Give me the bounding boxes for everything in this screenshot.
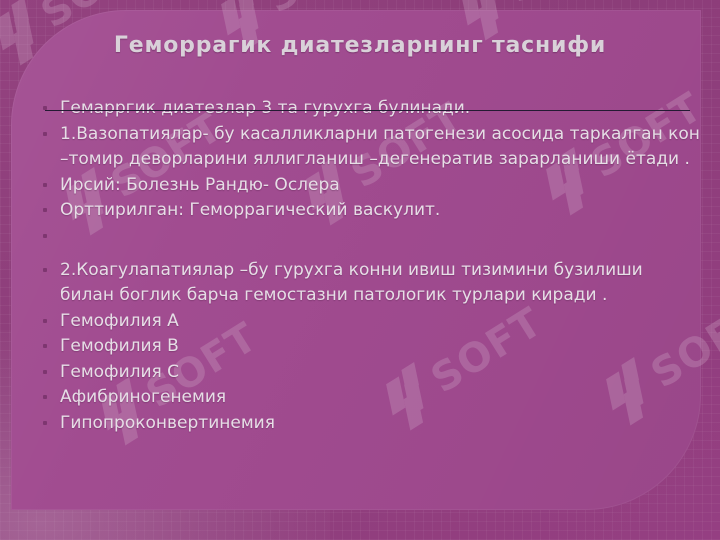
list-item-text: Ирсий: Болезнь Рандю- Ослера bbox=[60, 175, 340, 195]
list-item: Афибриногенемия bbox=[40, 385, 702, 411]
list-item: Орттирилган: Геморрагический васкулит. bbox=[40, 198, 702, 224]
list-item-text: Гемофилия С bbox=[60, 362, 179, 382]
list-item: 1.Вазопатиялар- бу касалликларни патоген… bbox=[40, 122, 702, 173]
slide-title: Геморрагик диатезларнинг таснифи bbox=[0, 33, 720, 58]
list-item-text: Гипопроконвертинемия bbox=[60, 413, 275, 433]
list-item-text: 2.Коагулапатиялар –бу гурухга конни ивиш… bbox=[60, 260, 643, 306]
list-item: Гемарргик диатезлар 3 та гурухга булинад… bbox=[40, 96, 702, 122]
presentation-slide: SOFT SOFT SOFT SOFT SOFT SOFT SOFT SOFT bbox=[0, 0, 720, 540]
list-item: Гипопроконвертинемия bbox=[40, 411, 702, 437]
list-item: Гемофилия С bbox=[40, 360, 702, 386]
list-item: Гемофилия В bbox=[40, 334, 702, 360]
list-item bbox=[40, 224, 702, 258]
list-item-text: 1.Вазопатиялар- бу касалликларни патоген… bbox=[60, 124, 700, 170]
list-item-text: Гемофилия А bbox=[60, 311, 179, 331]
list-item-text: Гемофилия В bbox=[60, 336, 179, 356]
list-item: 2.Коагулапатиялар –бу гурухга конни ивиш… bbox=[40, 258, 702, 309]
list-item-text: Орттирилган: Геморрагический васкулит. bbox=[60, 200, 440, 220]
list-item-text: Гемарргик диатезлар 3 та гурухга булинад… bbox=[60, 98, 470, 118]
list-item-text: Афибриногенемия bbox=[60, 387, 226, 407]
list-item: Ирсий: Болезнь Рандю- Ослера bbox=[40, 173, 702, 199]
slide-content: Геморрагик диатезларнинг таснифи Гемаррг… bbox=[0, 0, 720, 540]
list-item: Гемофилия А bbox=[40, 309, 702, 335]
bullet-list: Гемарргик диатезлар 3 та гурухга булинад… bbox=[40, 96, 702, 436]
